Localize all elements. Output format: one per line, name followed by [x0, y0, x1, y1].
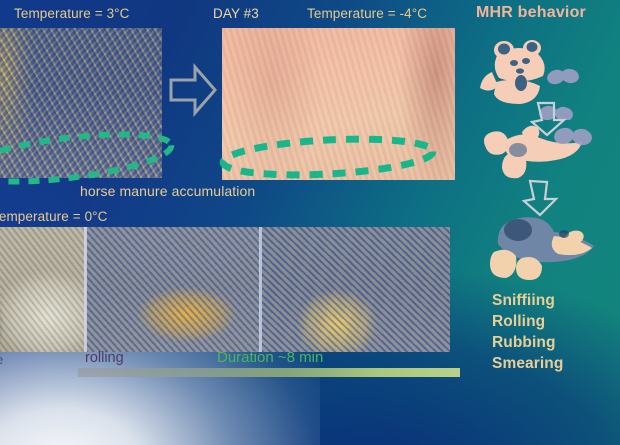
temperature-left-label: Temperature = 3°C [14, 6, 130, 21]
night-image-3 [262, 227, 450, 352]
thermal-image-warm [222, 28, 455, 180]
arrow-right-outline-icon [168, 62, 218, 123]
strip-separator-1 [84, 227, 87, 352]
night-image-2 [86, 227, 260, 352]
behaviour-list: Sniffiing Rolling Rubbing Smearing [492, 290, 563, 374]
slide-canvas: Temperature = 3°C DAY #3 Temperature = -… [0, 0, 620, 445]
strip-separator-2 [259, 227, 262, 352]
behaviour-item-3: Rubbing [492, 332, 563, 353]
panda-rubbing-icon [482, 208, 602, 280]
mhr-behavior-title: MHR behavior [476, 4, 586, 22]
thermal-image-cold [0, 28, 162, 178]
rolling-caption: rolling [85, 350, 124, 366]
horse-manure-label: horse manure accumulation [80, 183, 255, 199]
temperature-bottom-label: Temperature = 0°C [0, 209, 108, 224]
day-label: DAY #3 [213, 6, 259, 21]
duration-caption: Duration ~8 min [217, 349, 323, 366]
behaviour-item-1: Sniffiing [492, 290, 563, 311]
duration-gradient-bar [78, 368, 460, 377]
behaviour-item-2: Rolling [492, 311, 563, 332]
cut-off-caption: e [0, 352, 3, 367]
temperature-right-label: Temperature = -4°C [307, 6, 427, 21]
behaviour-item-4: Smearing [492, 353, 563, 374]
